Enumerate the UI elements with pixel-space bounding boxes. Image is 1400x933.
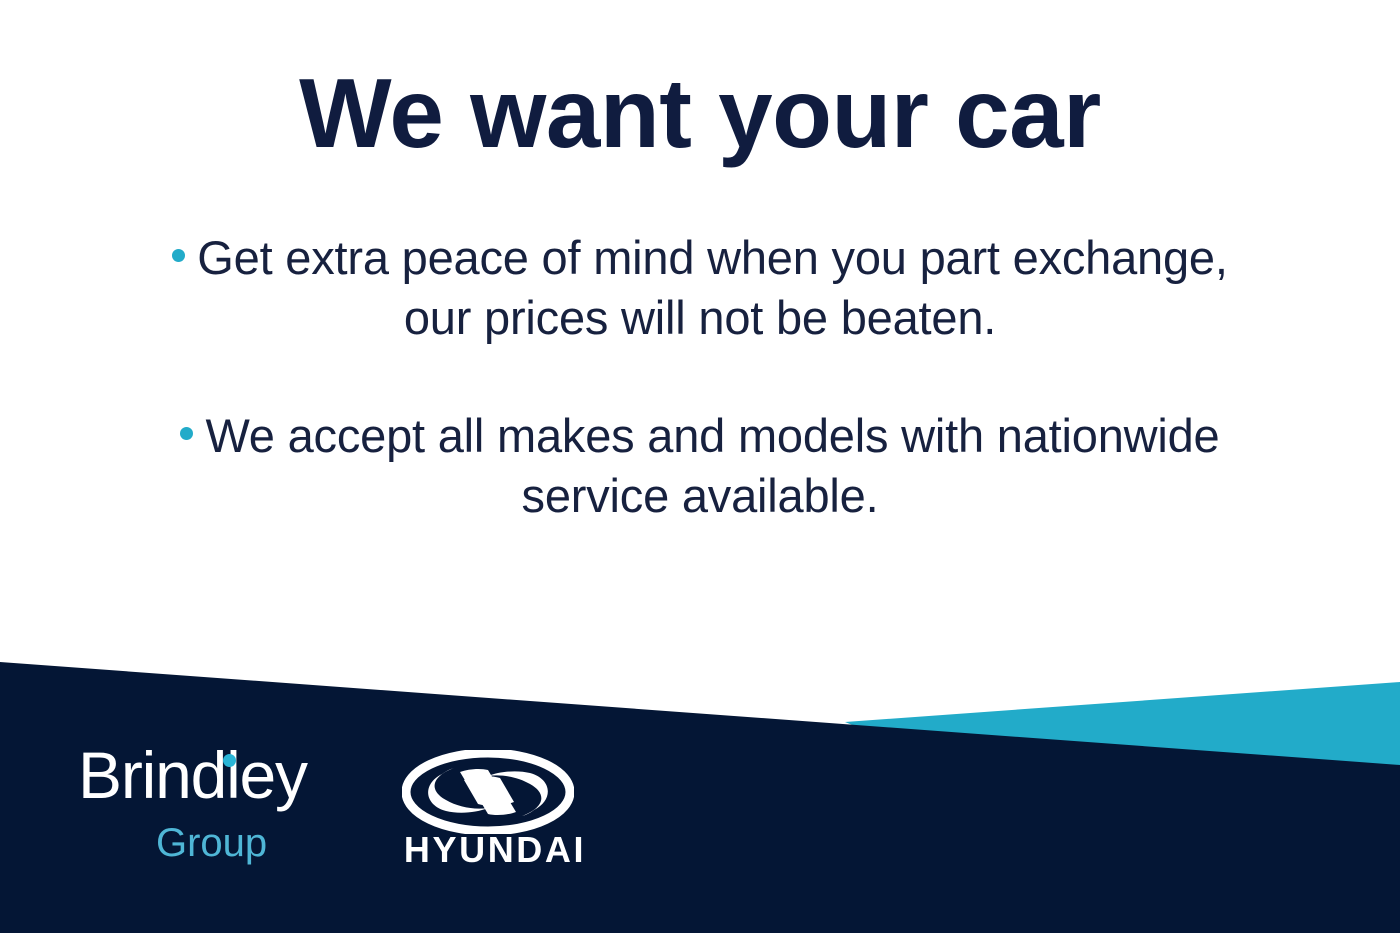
list-item: Get extra peace of mind when you part ex… — [170, 228, 1230, 348]
teal-dot-icon — [223, 754, 236, 767]
page-title: We want your car — [0, 62, 1400, 165]
bullet-dot-icon — [180, 427, 193, 440]
brindley-group-logo[interactable]: Brindley Group — [78, 742, 340, 880]
brindley-subtitle: Group — [156, 823, 267, 863]
promo-banner: We want your car Get extra peace of mind… — [0, 0, 1400, 933]
list-item: We accept all makes and models with nati… — [170, 406, 1230, 526]
hyundai-emblem-wrap — [402, 750, 574, 834]
bullet-list: Get extra peace of mind when you part ex… — [170, 228, 1230, 527]
bullet-text: We accept all makes and models with nati… — [205, 409, 1219, 522]
bullet-text: Get extra peace of mind when you part ex… — [197, 231, 1227, 344]
logo-lockup-row: Brindley Group HYUNDAI — [78, 742, 610, 882]
content-area: We want your car Get extra peace of mind… — [0, 0, 1400, 650]
hyundai-logo[interactable]: HYUNDAI — [380, 742, 610, 880]
hyundai-ellipse-h-icon — [402, 750, 574, 834]
bullet-dot-icon — [172, 249, 185, 262]
teal-wedge-shape — [845, 682, 1400, 768]
brindley-wordmark: Brindley — [78, 742, 307, 808]
hyundai-wordmark: HYUNDAI — [380, 832, 610, 868]
